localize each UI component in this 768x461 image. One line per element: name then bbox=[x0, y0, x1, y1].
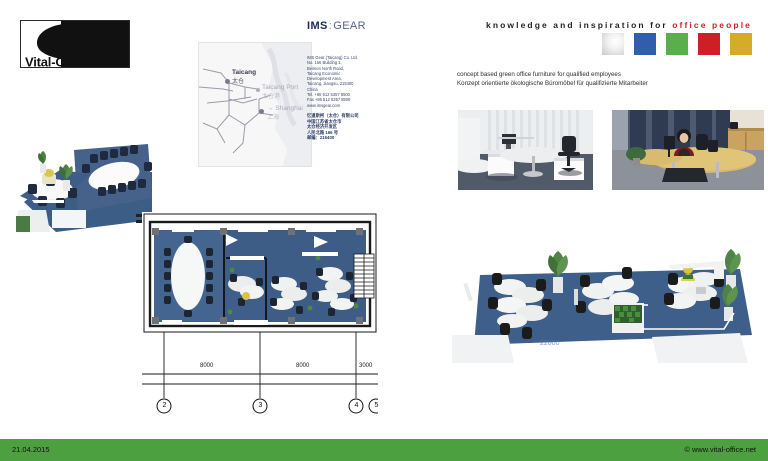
logo-wordmark-text: Vital-Office bbox=[25, 54, 91, 68]
open-office-render: 22000 bbox=[452, 235, 764, 363]
map-dot-taicang-port bbox=[256, 88, 260, 92]
grid-marker: 2 bbox=[158, 400, 171, 413]
map-label-shanghai-cn: 上海 bbox=[267, 112, 303, 121]
page-footer: 21.04.2015 © www.vital-office.net bbox=[0, 439, 768, 461]
tagline-accent: office people bbox=[672, 20, 752, 30]
location-map: Taicang 太仓 Taicang Port 太仓港 → Shanghai 上… bbox=[198, 42, 312, 167]
grid-marker: 5 bbox=[370, 400, 383, 413]
grid-marker: 4 bbox=[350, 400, 363, 413]
map-dot-taicang bbox=[225, 79, 230, 84]
ims-logo-light: GEAR bbox=[333, 20, 366, 32]
svg-text:22000: 22000 bbox=[540, 340, 560, 347]
meeting-room-render bbox=[16, 140, 152, 232]
office-meeting-photo-graphic bbox=[612, 110, 764, 190]
office-desk-photo-graphic bbox=[458, 110, 593, 190]
color-swatch-row bbox=[602, 33, 752, 55]
map-label-taicang: Taicang 太仓 bbox=[232, 69, 256, 85]
tagline-prefix: knowledge and inspiration for bbox=[486, 20, 672, 30]
grid-marker: 3 bbox=[254, 400, 267, 413]
map-label-port-en: Taicang Port bbox=[262, 84, 298, 91]
footer-date: 21.04.2015 bbox=[12, 445, 50, 454]
ims-logo-bold: IMS bbox=[307, 20, 328, 32]
office-desk-photo bbox=[458, 110, 593, 190]
concept-statement-panel: concept based green office furniture for… bbox=[447, 60, 768, 102]
map-label-taicang-en: Taicang bbox=[232, 69, 256, 76]
green-planter bbox=[612, 303, 644, 333]
concept-statement-text: concept based green office furniture for… bbox=[457, 71, 648, 88]
map-label-shanghai-en: Shanghai bbox=[275, 105, 302, 112]
map-label-port-cn: 太仓港 bbox=[262, 91, 298, 100]
document-page: Vital-Office® IMS:GEAR bbox=[0, 0, 768, 461]
header-tagline: knowledge and inspiration for office peo… bbox=[486, 20, 752, 30]
ims-gear-logo: IMS:GEAR bbox=[307, 20, 366, 32]
dimension-label: 3000 bbox=[359, 363, 372, 369]
concept-line-en: concept based green office furniture for… bbox=[457, 71, 648, 80]
logo-wordmark: Vital-Office® bbox=[25, 53, 96, 68]
ims-address-block: IMS Gear (Taicang) Co. Ltd. No. 166 Buil… bbox=[307, 55, 385, 141]
vital-office-logo: Vital-Office® bbox=[20, 20, 130, 68]
swatch-green bbox=[666, 33, 688, 55]
floor-plan: 8000 8000 3000 2 3 4 5 bbox=[142, 212, 378, 427]
swatch-red bbox=[698, 33, 720, 55]
floor-plan-graphic bbox=[142, 212, 378, 427]
address-cn-line: 邮编：215400 bbox=[307, 135, 385, 141]
map-label-taicang-cn: 太仓 bbox=[232, 76, 256, 85]
swatch-silver bbox=[602, 33, 624, 55]
map-arrow-shanghai: → bbox=[267, 105, 274, 112]
office-meeting-photo bbox=[612, 110, 764, 190]
swatch-blue bbox=[634, 33, 656, 55]
meeting-room-render-graphic bbox=[16, 140, 152, 232]
map-label-taicang-port: Taicang Port 太仓港 bbox=[262, 84, 298, 100]
swatch-gold bbox=[730, 33, 752, 55]
footer-copyright[interactable]: © www.vital-office.net bbox=[684, 445, 756, 454]
concept-line-de: Konzept orientierte ökologische Büromöbe… bbox=[457, 80, 648, 89]
map-dot-shanghai bbox=[259, 109, 264, 114]
dimension-label: 8000 bbox=[200, 363, 213, 369]
open-office-render-graphic: 22000 bbox=[452, 235, 764, 363]
dimension-label: 8000 bbox=[296, 363, 309, 369]
logo-registered-mark: ® bbox=[91, 56, 96, 63]
map-label-shanghai: → Shanghai 上海 bbox=[267, 105, 303, 121]
